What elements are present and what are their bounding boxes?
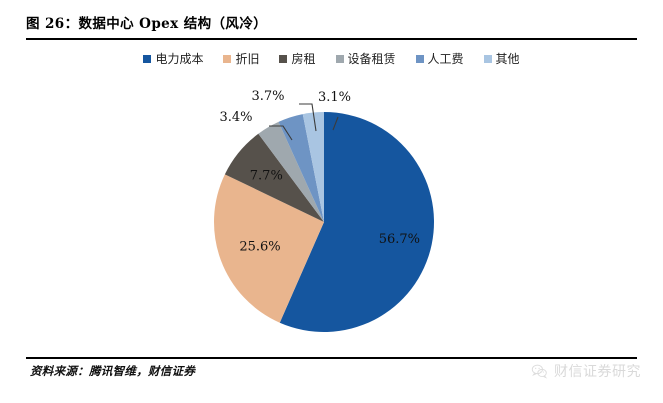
pie-slice-label-outside: 3.7%	[251, 89, 284, 104]
legend-label: 人工费	[428, 52, 464, 66]
legend-label: 折旧	[235, 52, 259, 66]
legend-label: 电力成本	[155, 52, 203, 66]
legend-swatch-icon	[416, 55, 424, 63]
pie-label-leader-line	[333, 117, 338, 130]
pie-slice[interactable]	[303, 112, 324, 222]
legend-label: 房租	[291, 52, 315, 66]
watermark-label: 财信证券研究	[554, 361, 641, 381]
pie-slice-label: 7.7%	[250, 168, 283, 183]
pie-leader-lines	[269, 104, 338, 140]
figure-panel: 图 26：数据中心 Opex 结构（风冷） 电力成本 折旧 房租 设备租赁 人工…	[0, 0, 663, 403]
source-note: 资料来源：腾讯智维，财信证券	[30, 363, 195, 379]
legend-item-0[interactable]: 电力成本	[143, 52, 203, 66]
pie-slice[interactable]	[214, 174, 324, 322]
chart-legend: 电力成本 折旧 房租 设备租赁 人工费 其他	[26, 48, 637, 70]
wechat-icon	[531, 363, 548, 380]
legend-swatch-icon	[223, 55, 231, 63]
pie-slice-label: 25.6%	[239, 240, 280, 255]
legend-swatch-icon	[336, 55, 344, 63]
legend-item-3[interactable]: 设备租赁	[336, 52, 396, 66]
legend-item-1[interactable]: 折旧	[223, 52, 259, 66]
title-divider	[26, 38, 637, 40]
page-title: 图 26：数据中心 Opex 结构（风冷）	[26, 14, 637, 34]
pie-slice[interactable]	[279, 114, 325, 222]
pie-slice[interactable]	[280, 112, 434, 332]
legend-item-2[interactable]: 房租	[279, 52, 315, 66]
pie-slice-label-outside: 3.1%	[318, 90, 351, 105]
pie-slice-label-outside: 3.4%	[219, 110, 252, 125]
legend-swatch-icon	[484, 55, 492, 63]
pie-label-leader-line	[269, 126, 292, 140]
pie-data-labels: 56.7%25.6%7.7%3.4%3.7%3.1%	[219, 89, 420, 255]
legend-label: 其他	[496, 52, 520, 66]
pie-slice[interactable]	[225, 134, 324, 222]
legend-item-4[interactable]: 人工费	[416, 52, 464, 66]
watermark: 财信证券研究	[531, 361, 641, 381]
legend-item-5[interactable]: 其他	[484, 52, 520, 66]
legend-label: 设备租赁	[348, 52, 396, 66]
pie-slice-group	[214, 112, 434, 332]
pie-slice[interactable]	[258, 122, 324, 222]
footer-divider	[26, 357, 637, 359]
legend-swatch-icon	[279, 55, 287, 63]
legend-swatch-icon	[143, 55, 151, 63]
figure-title-bar: 图 26：数据中心 Opex 结构（风冷）	[26, 14, 637, 36]
pie-slice-label: 56.7%	[379, 232, 420, 247]
pie-label-leader-line	[299, 104, 316, 131]
